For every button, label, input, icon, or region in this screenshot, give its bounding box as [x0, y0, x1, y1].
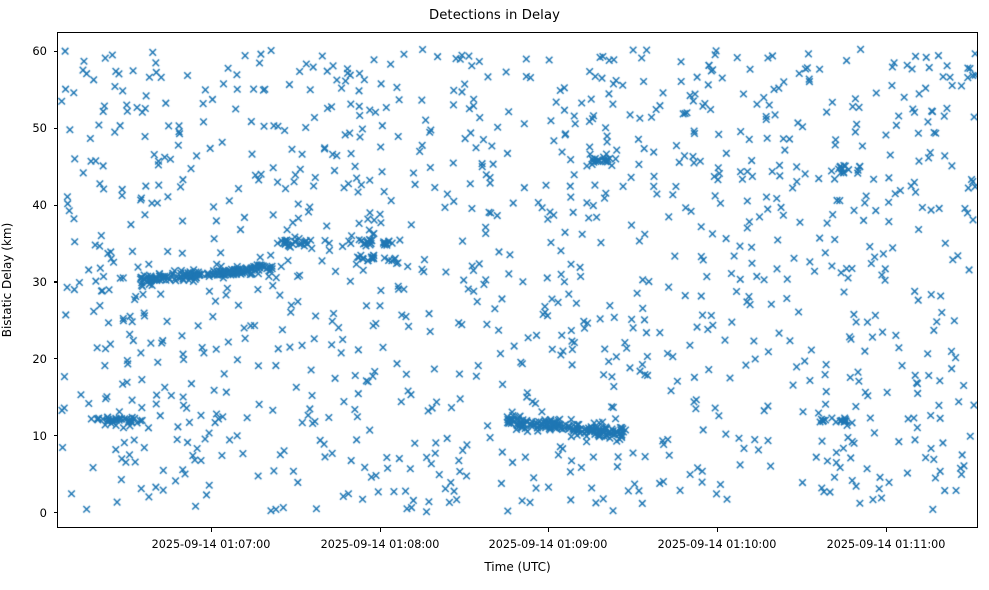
x-tick-mark — [211, 528, 212, 532]
y-tick-label: 50 — [32, 121, 47, 135]
chart-title: Detections in Delay — [0, 8, 989, 23]
y-tick-label: 60 — [32, 44, 47, 58]
y-axis-label: Bistatic Delay (km) — [0, 32, 18, 528]
x-tick-mark — [886, 528, 887, 532]
y-tick-label: 0 — [40, 506, 47, 520]
x-axis-label: Time (UTC) — [57, 560, 978, 574]
scatter-plot-canvas — [58, 33, 978, 528]
x-tick-mark — [717, 528, 718, 532]
chart-figure: Detections in Delay 0102030405060 Bistat… — [0, 0, 989, 590]
y-tick-label: 30 — [32, 275, 47, 289]
plot-area — [57, 32, 978, 528]
x-tick-label: 2025-09-14 01:09:00 — [489, 538, 608, 551]
y-tick-label: 20 — [32, 352, 47, 366]
x-tick-label: 2025-09-14 01:11:00 — [827, 538, 946, 551]
x-tick-label: 2025-09-14 01:08:00 — [321, 538, 440, 551]
x-tick-label: 2025-09-14 01:10:00 — [658, 538, 777, 551]
x-tick-label: 2025-09-14 01:07:00 — [152, 538, 271, 551]
x-axis: 2025-09-14 01:07:002025-09-14 01:08:0020… — [57, 528, 978, 590]
x-tick-mark — [380, 528, 381, 532]
y-tick-label: 10 — [32, 429, 47, 443]
x-tick-mark — [548, 528, 549, 532]
y-tick-label: 40 — [32, 198, 47, 212]
